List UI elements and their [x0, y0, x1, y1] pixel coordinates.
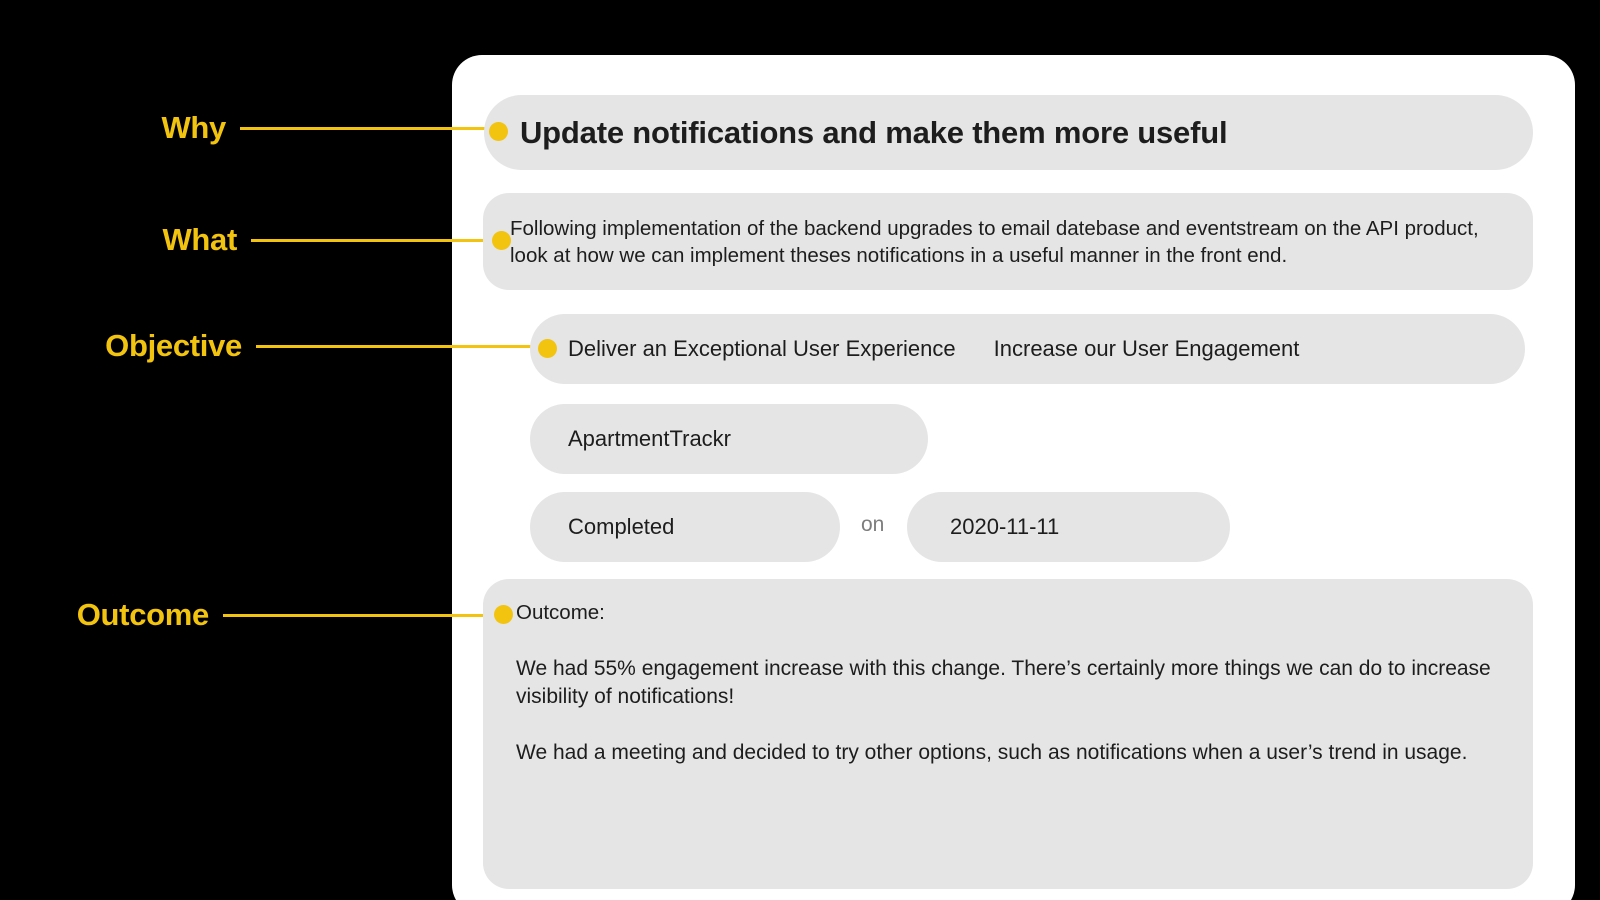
annotation-why-label: Why — [161, 110, 226, 146]
annotation-outcome-leader-line — [223, 614, 512, 617]
annotation-outcome: Outcome — [0, 595, 512, 635]
on-label: on — [861, 513, 884, 537]
bullet-dot-outcome — [494, 605, 513, 624]
annotation-why: Why — [0, 108, 498, 148]
objective-item-1: Deliver an Exceptional User Experience — [568, 336, 956, 362]
outcome-paragraph-1: We had 55% engagement increase with this… — [516, 655, 1503, 711]
annotation-objective-leader-line — [256, 345, 556, 348]
annotation-what-leader-line — [251, 239, 501, 242]
outcome-panel[interactable]: Outcome: We had 55% engagement increase … — [483, 579, 1533, 889]
annotation-what: What — [0, 220, 501, 260]
objectives-pill[interactable]: Deliver an Exceptional User Experience I… — [530, 314, 1525, 384]
diagram-canvas: Why What Objective Outcome Update notifi… — [0, 0, 1600, 900]
annotation-what-label: What — [162, 222, 237, 258]
completion-date: 2020-11-11 — [950, 514, 1059, 540]
product-pill[interactable]: ApartmentTrackr — [530, 404, 928, 474]
annotation-objective: Objective — [0, 326, 556, 366]
bullet-dot-what — [492, 231, 511, 250]
card-title-pill[interactable]: Update notifications and make them more … — [484, 95, 1533, 170]
annotation-outcome-label: Outcome — [77, 597, 209, 633]
bullet-dot-why — [489, 122, 508, 141]
date-pill[interactable]: 2020-11-11 — [907, 492, 1230, 562]
annotation-objective-label: Objective — [105, 328, 242, 364]
annotation-why-leader-line — [240, 127, 498, 130]
outcome-heading: Outcome: — [516, 599, 1503, 627]
status-badge: Completed — [568, 514, 674, 540]
card-description-text: Following implementation of the backend … — [510, 215, 1505, 269]
product-name: ApartmentTrackr — [568, 426, 731, 452]
status-pill[interactable]: Completed — [530, 492, 840, 562]
bullet-dot-objective — [538, 339, 557, 358]
page-title: Update notifications and make them more … — [520, 115, 1227, 151]
card-description-pill[interactable]: Following implementation of the backend … — [483, 193, 1533, 290]
outcome-paragraph-2: We had a meeting and decided to try othe… — [516, 739, 1503, 767]
objective-item-2: Increase our User Engagement — [994, 336, 1300, 362]
